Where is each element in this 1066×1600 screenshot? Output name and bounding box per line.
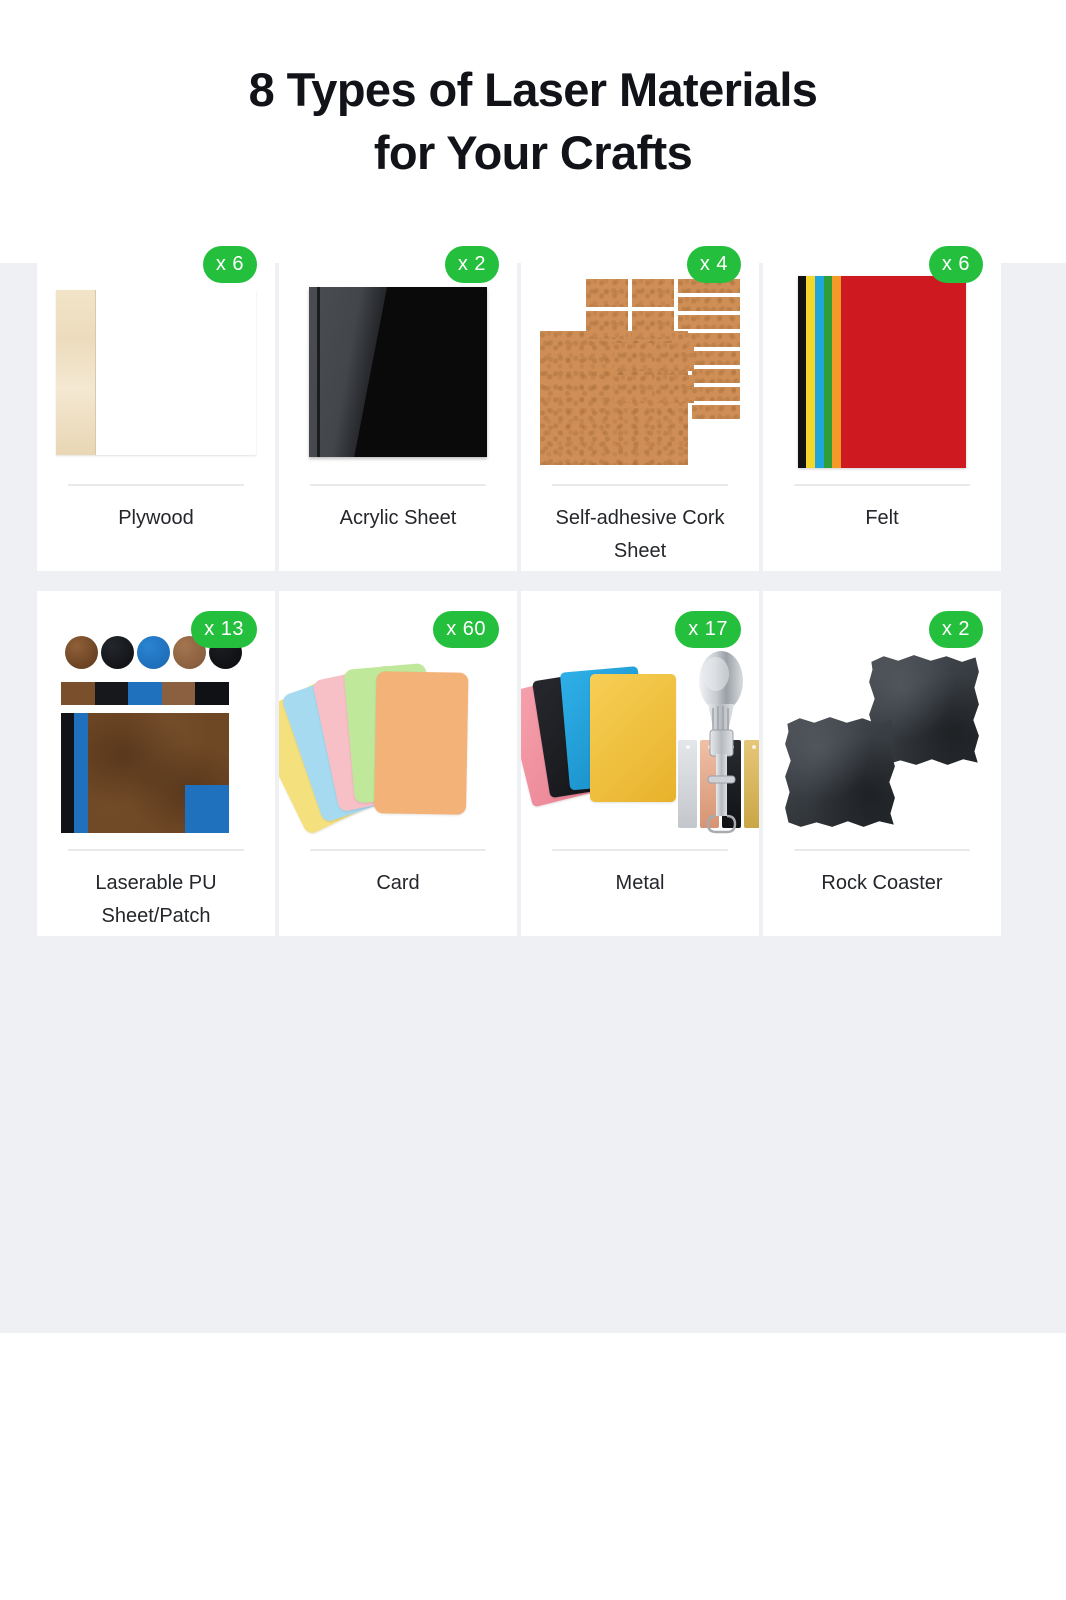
acrylic-swatch [309, 287, 487, 457]
pu-strip-row [61, 682, 229, 705]
cork-cut-square [614, 375, 652, 403]
cork-cut-strip [692, 369, 740, 383]
material-card-laserable-pu-sheet-patch[interactable]: x 13 [37, 591, 275, 936]
pu-circle-black [101, 636, 134, 669]
plywood-image [37, 274, 275, 470]
card-orange [374, 671, 468, 815]
material-label: Card [287, 867, 509, 900]
material-label: Acrylic Sheet [287, 502, 509, 535]
divider [310, 849, 486, 851]
quantity-badge: x 17 [675, 611, 741, 648]
cork-cut-strip [678, 315, 740, 329]
pu-sheet-blue-edge [74, 713, 88, 833]
material-card-felt[interactable]: x 6 Felt [763, 226, 1001, 571]
cork-cut-square [656, 375, 694, 403]
card-swatch [298, 650, 498, 835]
material-label: Plywood [45, 502, 267, 535]
page-title-line-1: 8 Types of Laser Materials [249, 63, 818, 116]
cork-cut-square [632, 279, 674, 307]
cork-cut-strip [678, 297, 740, 311]
material-card-plywood[interactable]: x 6 Plywood [37, 226, 275, 571]
acrylic-edge-line [317, 287, 320, 457]
pu-sheet-image [37, 631, 275, 841]
pu-strip-black [95, 682, 129, 705]
pu-sheet-black-edge [61, 713, 74, 833]
divider [794, 484, 970, 486]
page-title: 8 Types of Laser Materials for Your Craf… [0, 58, 1066, 185]
metal-plate-yellow [590, 674, 676, 802]
cork-cut-square [614, 343, 652, 371]
cork-swatch [540, 279, 740, 465]
material-card-metal[interactable]: x 17 [521, 591, 759, 936]
metal-swatch [532, 644, 748, 834]
divider [68, 849, 244, 851]
pu-circle-brown [65, 636, 98, 669]
felt-sheet-green [824, 276, 832, 468]
felt-sheet-red [841, 276, 966, 468]
acrylic-gloss-reflection [309, 287, 387, 457]
cork-cut-square [656, 343, 694, 371]
felt-swatch [798, 276, 966, 468]
material-label: Rock Coaster [771, 867, 993, 900]
pu-sheet-blue-corner [185, 785, 229, 833]
felt-sheet-yellow [806, 276, 815, 468]
rock-swatch [784, 654, 980, 828]
plywood-walnut-face [96, 290, 256, 455]
divider [68, 484, 244, 486]
pu-large-sheet [61, 713, 229, 833]
quantity-badge: x 13 [191, 611, 257, 648]
page-title-line-2: for Your Crafts [0, 121, 1066, 184]
folding-spoon-icon [694, 648, 746, 834]
felt-sheet-black [798, 276, 806, 468]
material-label: Self-adhesive Cork Sheet [529, 502, 751, 568]
material-card-self-adhesive-cork-sheet[interactable]: x 4 [521, 226, 759, 571]
cork-cut-square [632, 311, 674, 339]
quantity-badge: x 6 [203, 246, 257, 283]
cork-cut-square [586, 279, 628, 307]
material-card-card[interactable]: x 60 Card [279, 591, 517, 936]
cork-cut-square [586, 311, 628, 339]
divider [310, 484, 486, 486]
quantity-badge: x 2 [929, 611, 983, 648]
quantity-badge: x 4 [687, 246, 741, 283]
plywood-swatch [56, 290, 256, 455]
quantity-badge: x 6 [929, 246, 983, 283]
plywood-birch-edge [56, 290, 96, 455]
cork-cut-strip [692, 351, 740, 365]
metal-image [521, 639, 759, 839]
felt-sheet-cyan [815, 276, 824, 468]
cork-cut-strip [692, 405, 740, 419]
felt-sheet-orange [832, 276, 841, 468]
material-label: Felt [771, 502, 993, 535]
metal-bookmark-gold [744, 740, 759, 828]
pu-strip-brown [61, 682, 95, 705]
quantity-badge: x 60 [433, 611, 499, 648]
rock-coaster-image [763, 643, 1001, 839]
divider [552, 484, 728, 486]
pu-circle-blue [137, 636, 170, 669]
acrylic-sheet-image [279, 274, 517, 470]
pu-strip-black [195, 682, 229, 705]
cork-cut-strip [692, 387, 740, 401]
pu-sheet-leather-face [88, 713, 229, 833]
card-image [279, 647, 517, 837]
material-card-rock-coaster[interactable]: x 2 Rock Coaster [763, 591, 1001, 936]
material-label: Laserable PU Sheet/Patch [45, 867, 267, 933]
rock-coaster-front [784, 716, 896, 828]
infographic-page: 8 Types of Laser Materials for Your Craf… [0, 0, 1066, 1600]
quantity-badge: x 2 [445, 246, 499, 283]
divider [552, 849, 728, 851]
material-card-acrylic-sheet[interactable]: x 2 Acrylic Sheet [279, 226, 517, 571]
materials-grid: x 6 Plywood x 2 [37, 226, 1001, 936]
cork-sheet-image [521, 274, 759, 470]
material-label: Metal [529, 867, 751, 900]
felt-image [763, 274, 1001, 470]
pu-swatch [61, 636, 251, 836]
divider [794, 849, 970, 851]
pu-strip-tan [162, 682, 196, 705]
pu-strip-blue [128, 682, 162, 705]
